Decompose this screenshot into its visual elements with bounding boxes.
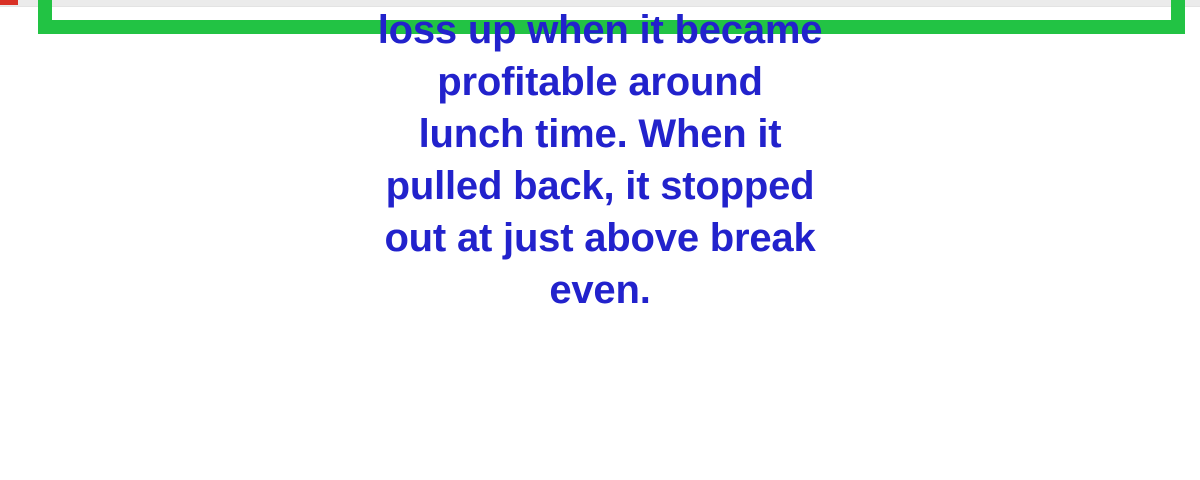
caption-line-2: profitable around xyxy=(0,56,1200,108)
caption-text-block: loss up when it became profitable around… xyxy=(0,4,1200,316)
caption-line-4: pulled back, it stopped xyxy=(0,160,1200,212)
screenshot-canvas: loss up when it became profitable around… xyxy=(0,0,1200,480)
caption-line-5: out at just above break xyxy=(0,212,1200,264)
caption-line-6: even. xyxy=(0,264,1200,316)
caption-line-3: lunch time. When it xyxy=(0,108,1200,160)
caption-line-1: loss up when it became xyxy=(0,4,1200,56)
